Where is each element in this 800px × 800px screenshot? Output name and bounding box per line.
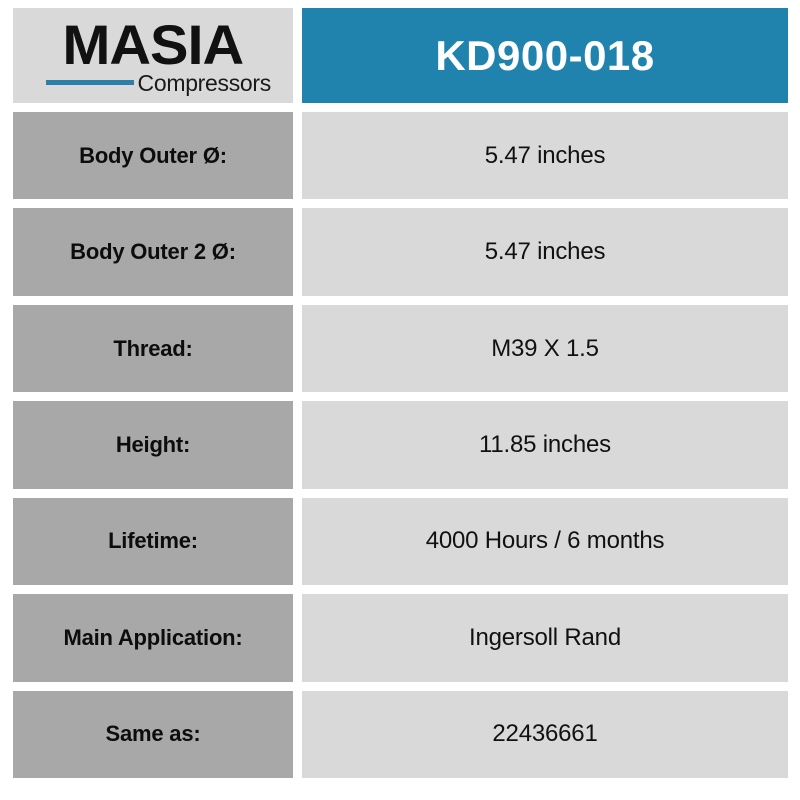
spec-value-text: M39 X 1.5 — [491, 335, 599, 363]
spec-sheet: MASIA Compressors KD900-018 Body Outer Ø… — [0, 0, 800, 800]
spec-label-cell: Body Outer Ø: — [13, 112, 293, 199]
spec-label-text: Same as: — [105, 721, 200, 747]
spec-value-text: 4000 Hours / 6 months — [426, 527, 665, 555]
brand-wordmark: MASIA — [63, 18, 244, 71]
spec-label-cell: Thread: — [13, 305, 293, 392]
spec-value-cell: Ingersoll Rand — [302, 594, 788, 681]
spec-value-cell: 5.47 inches — [302, 208, 788, 295]
spec-row: Thread:M39 X 1.5 — [13, 305, 788, 392]
part-number-text: KD900-018 — [435, 32, 654, 80]
spec-label-text: Lifetime: — [108, 528, 198, 554]
spec-value-text: 5.47 inches — [485, 238, 606, 266]
brand-logo: MASIA Compressors — [13, 8, 293, 103]
header-row: MASIA Compressors KD900-018 — [13, 8, 788, 103]
spec-label-text: Height: — [116, 432, 190, 458]
spec-label-text: Main Application: — [63, 625, 242, 651]
spec-value-text: Ingersoll Rand — [469, 624, 621, 652]
spec-value-cell: 22436661 — [302, 691, 788, 778]
spec-row: Same as:22436661 — [13, 691, 788, 778]
spec-row: Lifetime:4000 Hours / 6 months — [13, 498, 788, 585]
spec-value-text: 5.47 inches — [485, 142, 606, 170]
spec-value-text: 22436661 — [492, 720, 597, 748]
spec-row: Body Outer 2 Ø:5.47 inches — [13, 208, 788, 295]
spec-label-cell: Lifetime: — [13, 498, 293, 585]
spec-value-cell: M39 X 1.5 — [302, 305, 788, 392]
spec-label-text: Thread: — [113, 336, 192, 362]
spec-row: Height:11.85 inches — [13, 401, 788, 488]
spec-value-cell: 5.47 inches — [302, 112, 788, 199]
spec-label-cell: Body Outer 2 Ø: — [13, 208, 293, 295]
spec-value-cell: 11.85 inches — [302, 401, 788, 488]
spec-value-text: 11.85 inches — [479, 431, 611, 459]
spec-value-cell: 4000 Hours / 6 months — [302, 498, 788, 585]
brand-rule-icon — [46, 80, 134, 85]
spec-label-cell: Height: — [13, 401, 293, 488]
part-number-banner: KD900-018 — [302, 8, 788, 103]
spec-row: Body Outer Ø:5.47 inches — [13, 112, 788, 199]
spec-label-text: Body Outer 2 Ø: — [70, 239, 236, 265]
spec-label-cell: Main Application: — [13, 594, 293, 681]
spec-label-cell: Same as: — [13, 691, 293, 778]
spec-row: Main Application:Ingersoll Rand — [13, 594, 788, 681]
spec-label-text: Body Outer Ø: — [79, 143, 227, 169]
